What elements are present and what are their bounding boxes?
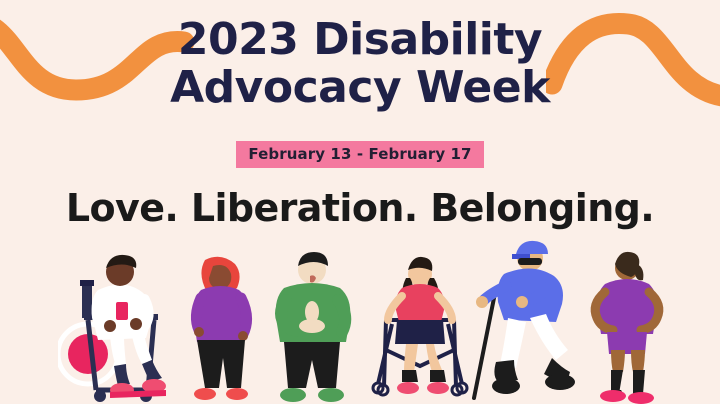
date-badge: February 13 - February 17 [236, 141, 483, 168]
disability-advocacy-week-poster: 2023 Disability Advocacy Week February 1… [0, 0, 720, 404]
prosthetic-legs-user-illustration [585, 250, 669, 404]
white-cane-user-illustration [468, 236, 578, 404]
page-title: 2023 Disability Advocacy Week [0, 16, 720, 111]
illustration-group [0, 232, 720, 404]
wheelchair-user-illustration [58, 240, 184, 404]
walker-user-illustration [370, 254, 470, 404]
sign-language-user-illustration [268, 250, 356, 404]
hijab-wearer-illustration [183, 254, 259, 404]
title-line-2: Advocacy Week [0, 64, 720, 112]
date-badge-container: February 13 - February 17 [0, 141, 720, 168]
title-line-1: 2023 Disability [0, 16, 720, 64]
tagline: Love. Liberation. Belonging. [0, 186, 720, 230]
